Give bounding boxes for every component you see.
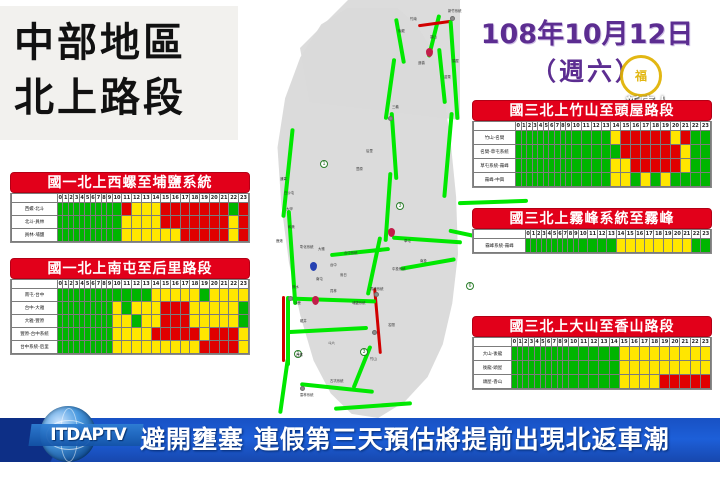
forecast-cell bbox=[700, 145, 710, 159]
forecast-cell bbox=[631, 159, 641, 173]
forecast-cell bbox=[132, 203, 142, 216]
forecast-hour-header: 18 bbox=[654, 230, 663, 239]
forecast-cell bbox=[180, 229, 190, 242]
forecast-cell bbox=[629, 347, 639, 361]
forecast-cell bbox=[200, 328, 210, 341]
headline-line-1: 中部地區 bbox=[14, 16, 238, 71]
forecast-cell bbox=[190, 302, 200, 315]
forecast-cell bbox=[597, 239, 606, 253]
map-label: 彰化系統 bbox=[300, 244, 314, 249]
forecast-cell bbox=[112, 315, 122, 328]
table-row: 南屯-台中 bbox=[12, 289, 249, 302]
forecast-cell bbox=[651, 173, 661, 187]
forecast-hour-header: 15 bbox=[619, 338, 629, 347]
table-row: 頭屋-香山 bbox=[474, 375, 711, 389]
forecast-cell bbox=[171, 216, 181, 229]
forecast-cell bbox=[639, 375, 649, 389]
map-label: 名間 bbox=[388, 322, 395, 327]
forecast-cell bbox=[141, 302, 151, 315]
forecast-cell bbox=[670, 361, 680, 375]
forecast-hour-header: 18 bbox=[650, 338, 660, 347]
forecast-cell bbox=[190, 289, 200, 302]
forecast-hour-header: 23 bbox=[239, 280, 249, 289]
forecast-cell bbox=[219, 341, 229, 354]
forecast-cell bbox=[661, 173, 671, 187]
forecast-cell bbox=[180, 289, 190, 302]
forecast-cell bbox=[132, 216, 142, 229]
map-label: 三義 bbox=[392, 104, 399, 109]
forecast-cell bbox=[161, 302, 171, 315]
map-label: 台中 bbox=[330, 262, 337, 267]
forecast-cell bbox=[700, 159, 710, 173]
forecast-cell bbox=[200, 203, 210, 216]
forecast-corner-cell bbox=[12, 194, 58, 203]
table-row: 霧峰-中興 bbox=[474, 173, 711, 187]
date-line-2: （週六） bbox=[462, 52, 712, 88]
forecast-cell bbox=[661, 145, 671, 159]
forecast-cell bbox=[690, 131, 700, 145]
map-label: 后里 bbox=[366, 148, 373, 153]
forecast-cell bbox=[650, 347, 660, 361]
forecast-cell bbox=[650, 361, 660, 375]
forecast-cell bbox=[190, 203, 200, 216]
forecast-cell bbox=[671, 173, 681, 187]
forecast-row-label: 北斗-員林 bbox=[12, 216, 58, 229]
forecast-cell bbox=[651, 159, 661, 173]
forecast-hour-header: 13 bbox=[607, 230, 616, 239]
forecast-row-label: 大山-後龍 bbox=[474, 347, 512, 361]
forecast-hour-header: 22 bbox=[692, 230, 701, 239]
forecast-hour-header: 14 bbox=[616, 230, 625, 239]
forecast-cell bbox=[171, 229, 181, 242]
forecast-hour-header: 10 bbox=[569, 338, 579, 347]
map-label: 龍井 bbox=[300, 318, 307, 323]
forecast-cell bbox=[571, 131, 581, 145]
forecast-hour-header: 14 bbox=[151, 194, 161, 203]
forecast-hour-header: 12 bbox=[589, 338, 599, 347]
forecast-corner-cell bbox=[474, 122, 516, 131]
forecast-hour-header: 12 bbox=[597, 230, 606, 239]
forecast-cell bbox=[161, 341, 171, 354]
forecast-cell bbox=[569, 375, 579, 389]
route-shield-icon: 3 bbox=[360, 348, 368, 356]
forecast-cell bbox=[171, 289, 181, 302]
logo-wordmark: ITDAPTV bbox=[32, 424, 144, 446]
forecast-cell bbox=[161, 289, 171, 302]
forecast-hour-header: 16 bbox=[631, 122, 641, 131]
forecast-cell bbox=[619, 375, 629, 389]
forecast-hour-header: 10 bbox=[112, 194, 122, 203]
forecast-cell bbox=[641, 159, 651, 173]
forecast-cell bbox=[631, 173, 641, 187]
forecast-table: 01234567891011121314151617181920212223西螺… bbox=[11, 193, 249, 242]
forecast-cell bbox=[680, 173, 690, 187]
forecast-cell bbox=[219, 302, 229, 315]
forecast-cell bbox=[141, 328, 151, 341]
forecast-cell bbox=[229, 203, 239, 216]
forecast-table: 01234567891011121314151617181920212223竹山… bbox=[473, 121, 711, 187]
forecast-hour-header: 21 bbox=[219, 194, 229, 203]
forecast-cell bbox=[209, 341, 219, 354]
forecast-row-label: 名間-草屯系統 bbox=[474, 145, 516, 159]
forecast-cell bbox=[122, 315, 132, 328]
map-label: 清水 bbox=[292, 284, 299, 289]
forecast-cell bbox=[180, 315, 190, 328]
forecast-card: 國三北上竹山至頭屋路段 0123456789101112131415161718… bbox=[472, 100, 712, 188]
forecast-cell bbox=[122, 302, 132, 315]
forecast-header-row: 01234567891011121314151617181920212223 bbox=[474, 122, 711, 131]
map-label: 西螺 bbox=[296, 352, 303, 357]
map-junction bbox=[450, 16, 455, 21]
map-label: 古坑系統 bbox=[330, 378, 344, 383]
forecast-hour-header: 16 bbox=[635, 230, 644, 239]
forecast-cell bbox=[607, 239, 616, 253]
forecast-card: 國三北上大山至香山路段 0123456789101112131415161718… bbox=[472, 316, 712, 390]
forecast-hour-header: 19 bbox=[663, 230, 672, 239]
forecast-cell bbox=[690, 173, 700, 187]
forecast-hour-header: 21 bbox=[219, 280, 229, 289]
forecast-cell bbox=[141, 216, 151, 229]
forecast-cell bbox=[239, 315, 249, 328]
forecast-cell bbox=[122, 328, 132, 341]
forecast-cell bbox=[239, 229, 249, 242]
forecast-cell bbox=[219, 216, 229, 229]
forecast-hour-header: 20 bbox=[671, 122, 681, 131]
forecast-card: 國一北上南屯至后里路段 0123456789101112131415161718… bbox=[10, 258, 250, 355]
forecast-card-title: 國一北上西螺至埔鹽系統 bbox=[10, 172, 250, 193]
forecast-hour-header: 12 bbox=[132, 194, 142, 203]
forecast-cell bbox=[680, 347, 690, 361]
forecast-cell bbox=[132, 341, 142, 354]
forecast-hour-header: 11 bbox=[581, 122, 591, 131]
forecast-cell bbox=[151, 302, 161, 315]
forecast-cell bbox=[200, 302, 210, 315]
map-label: 通霄 bbox=[280, 176, 287, 181]
forecast-cell bbox=[209, 229, 219, 242]
forecast-cell bbox=[132, 302, 142, 315]
forecast-cell bbox=[229, 341, 239, 354]
map-label: 香山 bbox=[430, 34, 437, 39]
forecast-cell bbox=[219, 315, 229, 328]
forecast-cell bbox=[171, 203, 181, 216]
map-junction bbox=[374, 292, 379, 297]
forecast-cell bbox=[161, 216, 171, 229]
table-row: 後龍-頭屋 bbox=[474, 361, 711, 375]
forecast-cell bbox=[700, 347, 710, 361]
forecast-hour-header: 17 bbox=[641, 122, 651, 131]
forecast-hour-header: 10 bbox=[571, 122, 581, 131]
forecast-cell bbox=[141, 229, 151, 242]
forecast-hour-header: 19 bbox=[200, 194, 210, 203]
forecast-cell bbox=[112, 289, 122, 302]
forecast-cell bbox=[571, 159, 581, 173]
forecast-hour-header: 23 bbox=[700, 122, 710, 131]
forecast-cell bbox=[670, 375, 680, 389]
forecast-cell bbox=[229, 216, 239, 229]
forecast-cell bbox=[229, 302, 239, 315]
forecast-cell bbox=[180, 302, 190, 315]
forecast-cell bbox=[219, 229, 229, 242]
forecast-cell bbox=[229, 229, 239, 242]
forecast-cell bbox=[635, 239, 644, 253]
table-row: 草屯系統-霧峰 bbox=[474, 159, 711, 173]
forecast-hour-header: 13 bbox=[601, 122, 611, 131]
forecast-cell bbox=[151, 315, 161, 328]
forecast-row-label: 南屯-台中 bbox=[12, 289, 58, 302]
forecast-hour-header: 11 bbox=[122, 280, 132, 289]
forecast-cell bbox=[239, 203, 249, 216]
forecast-table: 01234567891011121314151617181920212223霧峰… bbox=[473, 229, 711, 253]
forecast-cell bbox=[601, 159, 611, 173]
forecast-table: 01234567891011121314151617181920212223大山… bbox=[473, 337, 711, 389]
forecast-hour-header: 17 bbox=[639, 338, 649, 347]
map-junction bbox=[372, 330, 377, 335]
forecast-hour-header: 13 bbox=[599, 338, 609, 347]
table-row: 西螺-北斗 bbox=[12, 203, 249, 216]
forecast-cell bbox=[700, 375, 710, 389]
forecast-cell bbox=[581, 145, 591, 159]
gold-seal-icon: 福 bbox=[620, 55, 662, 97]
forecast-cell bbox=[616, 239, 625, 253]
forecast-cell bbox=[609, 361, 619, 375]
forecast-cell bbox=[171, 302, 181, 315]
forecast-cell bbox=[141, 203, 151, 216]
map-label: 苗栗 bbox=[444, 74, 451, 79]
forecast-hour-header: 23 bbox=[700, 338, 710, 347]
forecast-cell bbox=[151, 341, 161, 354]
forecast-hour-header: 17 bbox=[180, 194, 190, 203]
table-row: 台中-大雅 bbox=[12, 302, 249, 315]
table-row: 竹山-名間 bbox=[474, 131, 711, 145]
forecast-hour-header: 17 bbox=[644, 230, 653, 239]
forecast-hour-header: 22 bbox=[229, 194, 239, 203]
forecast-hour-header: 14 bbox=[611, 122, 621, 131]
forecast-hour-header: 15 bbox=[161, 280, 171, 289]
forecast-cell bbox=[161, 203, 171, 216]
forecast-row-label: 西螺-北斗 bbox=[12, 203, 58, 216]
forecast-cell bbox=[651, 131, 661, 145]
forecast-cell bbox=[112, 229, 122, 242]
map-label: 南投 bbox=[420, 258, 427, 263]
forecast-row-label: 頭屋-香山 bbox=[474, 375, 512, 389]
forecast-cell bbox=[132, 289, 142, 302]
route-shield-icon: 1 bbox=[320, 160, 328, 168]
forecast-hour-header: 23 bbox=[239, 194, 249, 203]
forecast-cell bbox=[112, 203, 122, 216]
forecast-cell bbox=[200, 289, 210, 302]
map-label: 南屯 bbox=[316, 276, 323, 281]
forecast-hour-header: 21 bbox=[680, 122, 690, 131]
forecast-cell bbox=[660, 347, 670, 361]
map-label: 霧峰系統 bbox=[370, 286, 384, 291]
forecast-cell bbox=[644, 239, 653, 253]
date-block: 108年10月12日 （週六） bbox=[462, 12, 712, 88]
map-label: 雲林系統 bbox=[300, 392, 314, 397]
forecast-cell bbox=[132, 328, 142, 341]
forecast-cell bbox=[651, 145, 661, 159]
forecast-hour-header: 22 bbox=[229, 280, 239, 289]
forecast-cell bbox=[639, 347, 649, 361]
forecast-cell bbox=[190, 341, 200, 354]
forecast-card-title: 國三北上竹山至頭屋路段 bbox=[472, 100, 712, 121]
forecast-cell bbox=[112, 341, 122, 354]
map-label: 白沙屯 bbox=[284, 190, 294, 195]
forecast-hour-header: 19 bbox=[200, 280, 210, 289]
forecast-hour-header: 21 bbox=[680, 338, 690, 347]
forecast-cell bbox=[229, 315, 239, 328]
forecast-cell bbox=[190, 328, 200, 341]
forecast-cell bbox=[112, 216, 122, 229]
forecast-hour-header: 18 bbox=[190, 194, 200, 203]
forecast-hour-header: 20 bbox=[670, 338, 680, 347]
forecast-cell bbox=[569, 347, 579, 361]
forecast-cell bbox=[591, 131, 601, 145]
forecast-cell bbox=[670, 347, 680, 361]
forecast-cell bbox=[619, 361, 629, 375]
map-label: 後龍 bbox=[398, 28, 405, 33]
forecast-row-label: 大雅-豐原 bbox=[12, 315, 58, 328]
forecast-cell bbox=[609, 347, 619, 361]
forecast-cell bbox=[589, 375, 599, 389]
forecast-hour-header: 20 bbox=[209, 280, 219, 289]
forecast-cell bbox=[579, 347, 589, 361]
map-label: 大雅 bbox=[318, 246, 325, 251]
forecast-cell bbox=[161, 315, 171, 328]
forecast-cell bbox=[599, 375, 609, 389]
forecast-cell bbox=[601, 131, 611, 145]
forecast-row-label: 後龍-頭屋 bbox=[474, 361, 512, 375]
forecast-cell bbox=[641, 173, 651, 187]
forecast-cell bbox=[151, 289, 161, 302]
forecast-cell bbox=[673, 239, 682, 253]
forecast-grid: 01234567891011121314151617181920212223西螺… bbox=[10, 193, 250, 243]
forecast-header-row: 01234567891011121314151617181920212223 bbox=[12, 194, 249, 203]
forecast-hour-header: 14 bbox=[609, 338, 619, 347]
route-shield-icon: 3 bbox=[396, 202, 404, 210]
forecast-cell bbox=[680, 131, 690, 145]
forecast-cell bbox=[700, 173, 710, 187]
forecast-cell bbox=[626, 239, 635, 253]
forecast-card-title: 國三北上霧峰系統至霧峰 bbox=[472, 208, 712, 229]
forecast-cell bbox=[639, 361, 649, 375]
forecast-cell bbox=[631, 131, 641, 145]
forecast-cell bbox=[209, 289, 219, 302]
forecast-cell bbox=[151, 328, 161, 341]
road-segment bbox=[278, 358, 290, 414]
forecast-cell bbox=[141, 315, 151, 328]
forecast-grid: 01234567891011121314151617181920212223竹山… bbox=[472, 121, 712, 188]
forecast-row-label: 霧峰系統-霧峰 bbox=[474, 239, 526, 253]
forecast-cell bbox=[190, 315, 200, 328]
forecast-cell bbox=[581, 131, 591, 145]
forecast-cell bbox=[599, 347, 609, 361]
forecast-hour-header: 21 bbox=[682, 230, 691, 239]
forecast-cell bbox=[680, 375, 690, 389]
map-label: 中投系統 bbox=[392, 266, 406, 271]
forecast-corner-cell bbox=[12, 280, 58, 289]
forecast-cell bbox=[122, 289, 132, 302]
forecast-cell bbox=[671, 131, 681, 145]
forecast-cell bbox=[171, 315, 181, 328]
forecast-cell bbox=[161, 328, 171, 341]
forecast-cell bbox=[112, 328, 122, 341]
route-shield-icon: 6 bbox=[466, 282, 474, 290]
forecast-cell bbox=[209, 315, 219, 328]
forecast-hour-header: 17 bbox=[180, 280, 190, 289]
forecast-cell bbox=[661, 131, 671, 145]
forecast-cell bbox=[701, 239, 711, 253]
map-label: 竹山 bbox=[370, 356, 377, 361]
forecast-hour-header: 11 bbox=[122, 194, 132, 203]
forecast-cell bbox=[190, 229, 200, 242]
forecast-cell bbox=[122, 229, 132, 242]
forecast-cell bbox=[578, 239, 587, 253]
forecast-cell bbox=[141, 341, 151, 354]
forecast-hour-header: 16 bbox=[171, 280, 181, 289]
forecast-cell bbox=[621, 159, 631, 173]
forecast-cell bbox=[200, 341, 210, 354]
forecast-cell bbox=[132, 229, 142, 242]
forecast-cell bbox=[141, 289, 151, 302]
map-label: 新竹系統 bbox=[448, 8, 462, 13]
forecast-cell bbox=[239, 341, 249, 354]
forecast-hour-header: 15 bbox=[161, 194, 171, 203]
forecast-cell bbox=[690, 159, 700, 173]
forecast-cell bbox=[611, 131, 621, 145]
forecast-cell bbox=[654, 239, 663, 253]
forecast-cell bbox=[229, 289, 239, 302]
forecast-hour-header: 22 bbox=[690, 122, 700, 131]
forecast-row-label: 霧峰-中興 bbox=[474, 173, 516, 187]
forecast-cell bbox=[161, 229, 171, 242]
forecast-hour-header: 19 bbox=[660, 338, 670, 347]
forecast-cell bbox=[180, 341, 190, 354]
channel-logo: ITDAPTV bbox=[30, 404, 142, 466]
forecast-cell bbox=[579, 375, 589, 389]
road-segment-congested bbox=[282, 296, 285, 362]
forecast-corner-cell bbox=[474, 230, 526, 239]
forecast-cell bbox=[682, 239, 691, 253]
forecast-cell bbox=[609, 375, 619, 389]
forecast-cell bbox=[229, 328, 239, 341]
forecast-cell bbox=[692, 239, 701, 253]
forecast-cell bbox=[151, 203, 161, 216]
map-label: 頭屋 bbox=[452, 58, 459, 63]
forecast-cell bbox=[680, 145, 690, 159]
map-label: 埔鹽系統 bbox=[352, 300, 366, 305]
forecast-cell bbox=[661, 159, 671, 173]
map-label: 造橋 bbox=[418, 60, 425, 65]
forecast-cell bbox=[581, 173, 591, 187]
forecast-cell bbox=[690, 375, 700, 389]
forecast-hour-header: 19 bbox=[661, 122, 671, 131]
forecast-cell bbox=[579, 361, 589, 375]
table-row: 豐原-台中系統 bbox=[12, 328, 249, 341]
forecast-cell bbox=[671, 145, 681, 159]
forecast-cell bbox=[151, 216, 161, 229]
forecast-cell bbox=[171, 328, 181, 341]
table-row: 名間-草屯系統 bbox=[474, 145, 711, 159]
forecast-cell bbox=[663, 239, 672, 253]
forecast-cell bbox=[239, 302, 249, 315]
forecast-cell bbox=[611, 145, 621, 159]
forecast-cell bbox=[589, 361, 599, 375]
map-label: 豐原 bbox=[356, 166, 363, 171]
forecast-hour-header: 12 bbox=[591, 122, 601, 131]
forecast-cell bbox=[239, 328, 249, 341]
forecast-cell bbox=[209, 216, 219, 229]
forecast-cell bbox=[680, 361, 690, 375]
